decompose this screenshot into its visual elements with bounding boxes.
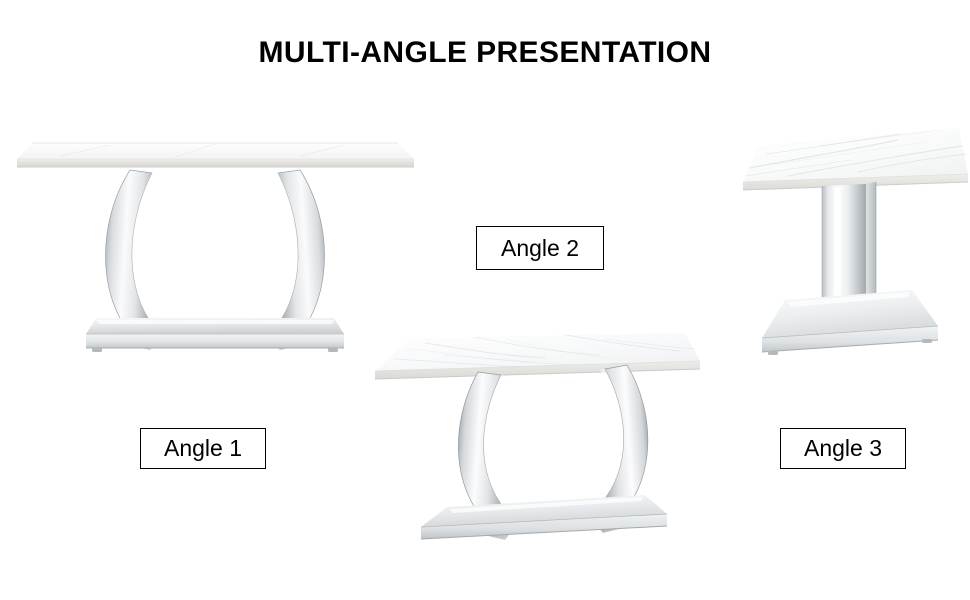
table-plinth-angle-3: [762, 290, 938, 355]
table-plinth-angle-2: [421, 495, 667, 539]
angle-label-1[interactable]: Angle 1: [140, 428, 266, 469]
table-top-angle-2: [375, 333, 700, 379]
table-end-view-icon: [730, 110, 970, 370]
table-base-angle-1: [106, 170, 325, 343]
table-top-angle-1: [17, 143, 414, 167]
presentation-canvas: MULTI-ANGLE PRESENTATION: [0, 0, 970, 600]
angle-label-3[interactable]: Angle 3: [780, 428, 906, 469]
table-top-angle-3: [743, 128, 968, 190]
table-column-angle-3: [822, 182, 876, 312]
table-plinth-angle-1: [86, 318, 344, 352]
page-title: MULTI-ANGLE PRESENTATION: [0, 36, 970, 70]
table-perspective-view-icon: [355, 325, 725, 560]
product-image-angle-3: [730, 110, 970, 370]
angle-label-2[interactable]: Angle 2: [476, 226, 604, 270]
product-image-angle-2: [355, 325, 725, 560]
